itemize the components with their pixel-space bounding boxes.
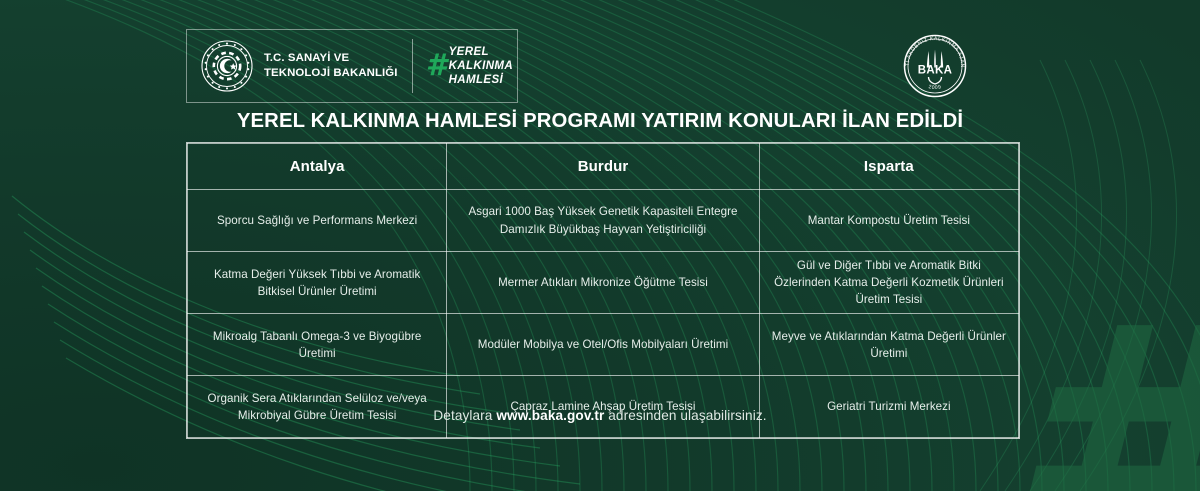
column-header-antalya: Antalya [188, 144, 447, 190]
page-title: YEREL KALKINMA HAMLESİ PROGRAMI YATIRIM … [0, 110, 1200, 133]
ministry-name: T.C. SANAYİ VE TEKNOLOJİ BAKANLIĞI [264, 51, 398, 81]
table-row: Sporcu Sağlığı ve Performans Merkezi Asg… [188, 190, 1019, 252]
table-cell: Meyve ve Atıklarından Katma Değerli Ürün… [759, 314, 1018, 376]
baka-circular-emblem-icon: BATI AKDENİZ KALKINMA AJANSI 2009 BAKA [900, 31, 970, 101]
table-row: Katma Değeri Yüksek Tıbbi ve Aromatik Bi… [188, 252, 1019, 314]
table-cell: Çapraz Lamine Ahşap Üretim Tesisi [447, 376, 759, 438]
table-cell: Asgari 1000 Baş Yüksek Genetik Kapasitel… [447, 190, 759, 252]
program-logo: # YEREL KALKINMA HAMLESİ [426, 45, 513, 87]
turkish-republic-seal-icon [201, 40, 253, 92]
column-header-burdur: Burdur [447, 144, 759, 190]
logo-divider [412, 39, 413, 93]
table-row: Mikroalg Tabanlı Omega-3 ve Biyogübre Ür… [188, 314, 1019, 376]
svg-text:2009: 2009 [928, 84, 942, 91]
column-header-isparta: Isparta [759, 144, 1018, 190]
table-cell: Mantar Kompostu Üretim Tesisi [759, 190, 1018, 252]
table-cell: Katma Değeri Yüksek Tıbbi ve Aromatik Bi… [188, 252, 447, 314]
ministry-logo: T.C. SANAYİ VE TEKNOLOJİ BAKANLIĞI [187, 40, 398, 92]
footer-prefix: Detaylara [433, 408, 496, 423]
table-cell: Modüler Mobilya ve Otel/Ofis Mobilyaları… [447, 314, 759, 376]
table-cell: Organik Sera Atıklarından Selüloz ve/vey… [188, 376, 447, 438]
footer-url[interactable]: www.baka.gov.tr [496, 408, 604, 423]
ministry-name-line2: TEKNOLOJİ BAKANLIĞI [264, 67, 398, 79]
table-cell: Geriatri Turizmi Merkezi [759, 376, 1018, 438]
program-logo-line3: HAMLESİ [449, 74, 504, 86]
table-header-row: Antalya Burdur Isparta [188, 144, 1019, 190]
table-row: Organik Sera Atıklarından Selüloz ve/vey… [188, 376, 1019, 438]
program-logo-text: YEREL KALKINMA HAMLESİ [449, 45, 514, 87]
header-logo-bar: T.C. SANAYİ VE TEKNOLOJİ BAKANLIĞI # YER… [186, 29, 518, 103]
program-logo-line2: KALKINMA [449, 60, 514, 72]
investment-topics-table: Antalya Burdur Isparta Sporcu Sağlığı ve… [186, 142, 1020, 439]
table-cell: Sporcu Sağlığı ve Performans Merkezi [188, 190, 447, 252]
table-cell: Gül ve Diğer Tıbbi ve Aromatik Bitki Özl… [759, 252, 1018, 314]
table-cell: Mikroalg Tabanlı Omega-3 ve Biyogübre Ür… [188, 314, 447, 376]
footer-note: Detaylara www.baka.gov.tr adresinden ula… [0, 408, 1200, 423]
ministry-name-line1: T.C. SANAYİ VE [264, 52, 349, 64]
footer-suffix: adresinden ulaşabilirsiniz. [604, 408, 766, 423]
svg-text:BAKA: BAKA [918, 65, 952, 77]
program-logo-line1: YEREL [449, 46, 489, 58]
hashtag-icon: # [426, 51, 445, 81]
table-cell: Mermer Atıkları Mikronize Öğütme Tesisi [447, 252, 759, 314]
